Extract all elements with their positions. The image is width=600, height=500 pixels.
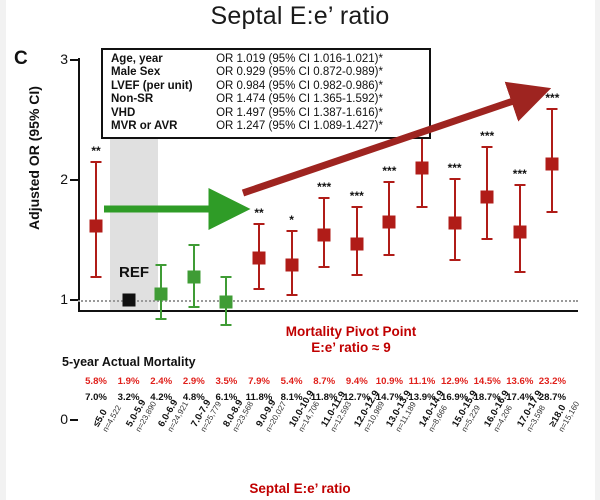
y-axis xyxy=(78,58,80,312)
inset-row-value: OR 1.019 (95% CI 1.016-1.021)* xyxy=(214,53,424,66)
x-tick: ≤5.0n=4,522 xyxy=(92,399,125,435)
mortality-value-black: 28.7% xyxy=(539,392,566,403)
inset-row: Age, yearOR 1.019 (95% CI 1.016-1.021)* xyxy=(109,53,424,66)
significance-stars: ** xyxy=(91,144,100,158)
mortality-value-red: 7.9% xyxy=(248,376,270,387)
data-point xyxy=(546,158,559,171)
mortality-value-red: 2.9% xyxy=(183,376,205,387)
error-bar-cap xyxy=(514,271,525,273)
y-tick-label: 3 xyxy=(48,51,68,67)
mortality-value-red: 10.9% xyxy=(376,376,403,387)
mortality-value-black: 17.4% xyxy=(506,392,533,403)
data-point-marker xyxy=(448,217,461,230)
x-axis-title: Septal E:e’ ratio xyxy=(0,481,600,496)
inset-row-label: Non-SR xyxy=(109,93,214,106)
error-bar-cap xyxy=(547,211,558,213)
error-bar-cap xyxy=(449,259,460,261)
mortality-value-red: 23.2% xyxy=(539,376,566,387)
inset-row-label: VHD xyxy=(109,107,214,120)
data-point-marker xyxy=(416,162,429,175)
data-point-marker xyxy=(220,296,233,309)
error-bar-cap xyxy=(188,244,199,246)
error-bar-cap xyxy=(319,197,330,199)
pivot-annotation: Mortality Pivot Point E:e’ ratio ≈ 9 xyxy=(236,324,466,356)
data-point xyxy=(481,190,494,203)
error-bar-cap xyxy=(482,146,493,148)
y-tick xyxy=(70,59,78,61)
y-tick xyxy=(70,299,78,301)
error-bar-cap xyxy=(384,181,395,183)
data-point-marker xyxy=(122,294,135,307)
inset-row-label: MVR or AVR xyxy=(109,120,214,133)
inset-row-value: OR 0.984 (95% CI 0.982-0.986)* xyxy=(214,80,424,93)
error-bar-cap xyxy=(482,238,493,240)
error-bar-cap xyxy=(449,178,460,180)
data-point xyxy=(122,294,135,307)
inset-row: LVEF (per unit)OR 0.984 (95% CI 0.982-0.… xyxy=(109,80,424,93)
error-bar-cap xyxy=(514,184,525,186)
mortality-value-red: 3.5% xyxy=(215,376,237,387)
mortality-value-black: 7.0% xyxy=(85,392,107,403)
data-point-marker xyxy=(155,288,168,301)
inset-row-value: OR 1.474 (95% CI 1.365-1.592)* xyxy=(214,93,424,106)
significance-stars: *** xyxy=(480,129,494,143)
y-tick xyxy=(70,179,78,181)
mortality-value-black: 3.2% xyxy=(118,392,140,403)
error-bar-cap xyxy=(221,324,232,326)
significance-stars: ** xyxy=(254,206,263,220)
data-point xyxy=(90,219,103,232)
data-point xyxy=(448,217,461,230)
y-tick-label: 0 xyxy=(48,411,68,427)
mortality-value-red: 11.1% xyxy=(409,376,436,387)
inset-row: Male SexOR 0.929 (95% CI 0.872-0.989)* xyxy=(109,66,424,79)
inset-row-label: LVEF (per unit) xyxy=(109,80,214,93)
error-bar-cap xyxy=(547,108,558,110)
data-point-marker xyxy=(285,259,298,272)
covariate-inset-table: Age, yearOR 1.019 (95% CI 1.016-1.021)*M… xyxy=(101,48,431,139)
data-point xyxy=(350,237,363,250)
inset-row: VHDOR 1.497 (95% CI 1.387-1.616)* xyxy=(109,107,424,120)
data-point-marker xyxy=(90,219,103,232)
inset-row-value: OR 1.247 (95% CI 1.089-1.427)* xyxy=(214,120,424,133)
error-bar-cap xyxy=(384,254,395,256)
x-axis xyxy=(78,310,578,312)
mortality-value-black: 11.8% xyxy=(311,392,338,403)
inset-row-value: OR 1.497 (95% CI 1.387-1.616)* xyxy=(214,107,424,120)
error-bar-cap xyxy=(254,288,265,290)
significance-stars: *** xyxy=(382,164,396,178)
mortality-value-red: 13.6% xyxy=(506,376,533,387)
y-tick-label: 2 xyxy=(48,171,68,187)
reference-label: REF xyxy=(110,264,158,281)
data-point xyxy=(383,216,396,229)
error-bar-cap xyxy=(254,223,265,225)
mortality-value-red: 1.9% xyxy=(118,376,140,387)
page-title: Septal E:e’ ratio xyxy=(0,2,600,31)
pivot-line-2: E:e’ ratio ≈ 9 xyxy=(311,340,390,355)
data-point xyxy=(513,225,526,238)
significance-stars: *** xyxy=(513,167,527,181)
mortality-value-black: 4.8% xyxy=(183,392,205,403)
error-bar-cap xyxy=(351,274,362,276)
error-bar-cap xyxy=(188,306,199,308)
mortality-value-black: 16.9% xyxy=(441,392,468,403)
left-edge-strip xyxy=(0,0,6,500)
mortality-value-red: 2.4% xyxy=(150,376,172,387)
mortality-row-label: 5-year Actual Mortality xyxy=(62,355,196,369)
mortality-value-red: 8.7% xyxy=(313,376,335,387)
mortality-value-red: 5.4% xyxy=(281,376,303,387)
error-bar-cap xyxy=(286,230,297,232)
mortality-value-red: 12.9% xyxy=(441,376,468,387)
error-bar-cap xyxy=(91,276,102,278)
inset-row-label: Age, year xyxy=(109,53,214,66)
data-point-marker xyxy=(253,252,266,265)
inset-row: MVR or AVROR 1.247 (95% CI 1.089-1.427)* xyxy=(109,120,424,133)
reference-line xyxy=(78,300,578,302)
mortality-value-black: 4.2% xyxy=(150,392,172,403)
data-point xyxy=(220,296,233,309)
data-point-marker xyxy=(187,271,200,284)
significance-stars: *** xyxy=(317,180,331,194)
error-bar-cap xyxy=(91,161,102,163)
error-bar-cap xyxy=(319,266,330,268)
significance-stars: * xyxy=(289,213,294,227)
error-bar-cap xyxy=(351,206,362,208)
error-bar-cap xyxy=(156,318,167,320)
error-bar-cap xyxy=(417,206,428,208)
mortality-value-red: 14.5% xyxy=(474,376,501,387)
y-tick xyxy=(70,419,78,421)
data-point-marker xyxy=(350,237,363,250)
data-point-marker xyxy=(481,190,494,203)
data-point-marker xyxy=(546,158,559,171)
mortality-value-black: 13.9% xyxy=(408,392,435,403)
error-bar-cap xyxy=(221,276,232,278)
mortality-value-black: 14.7% xyxy=(376,392,403,403)
data-point xyxy=(187,271,200,284)
inset-row: Non-SROR 1.474 (95% CI 1.365-1.592)* xyxy=(109,93,424,106)
error-bar-cap xyxy=(156,264,167,266)
inset-row-label: Male Sex xyxy=(109,66,214,79)
mortality-value-black: 8.1% xyxy=(281,392,303,403)
significance-stars: *** xyxy=(350,189,364,203)
data-point-marker xyxy=(318,229,331,242)
y-tick-label: 1 xyxy=(48,291,68,307)
right-edge-strip xyxy=(595,0,600,500)
data-point xyxy=(253,252,266,265)
mortality-value-black: 18.7% xyxy=(474,392,501,403)
inset-row-value: OR 0.929 (95% CI 0.872-0.989)* xyxy=(214,66,424,79)
mortality-value-black: 11.8% xyxy=(246,392,273,403)
error-bar-cap xyxy=(286,294,297,296)
mortality-value-red: 5.8% xyxy=(85,376,107,387)
significance-stars: *** xyxy=(545,91,559,105)
mortality-value-black: 6.1% xyxy=(215,392,237,403)
data-point xyxy=(318,229,331,242)
data-point xyxy=(285,259,298,272)
data-point-marker xyxy=(383,216,396,229)
y-axis-title: Adjusted OR (95% CI) xyxy=(26,58,42,258)
data-point xyxy=(416,162,429,175)
mortality-value-black: 12.7% xyxy=(343,392,370,403)
pivot-line-1: Mortality Pivot Point xyxy=(286,324,417,339)
data-point-marker xyxy=(513,225,526,238)
data-point xyxy=(155,288,168,301)
mortality-value-red: 9.4% xyxy=(346,376,368,387)
significance-stars: *** xyxy=(448,161,462,175)
